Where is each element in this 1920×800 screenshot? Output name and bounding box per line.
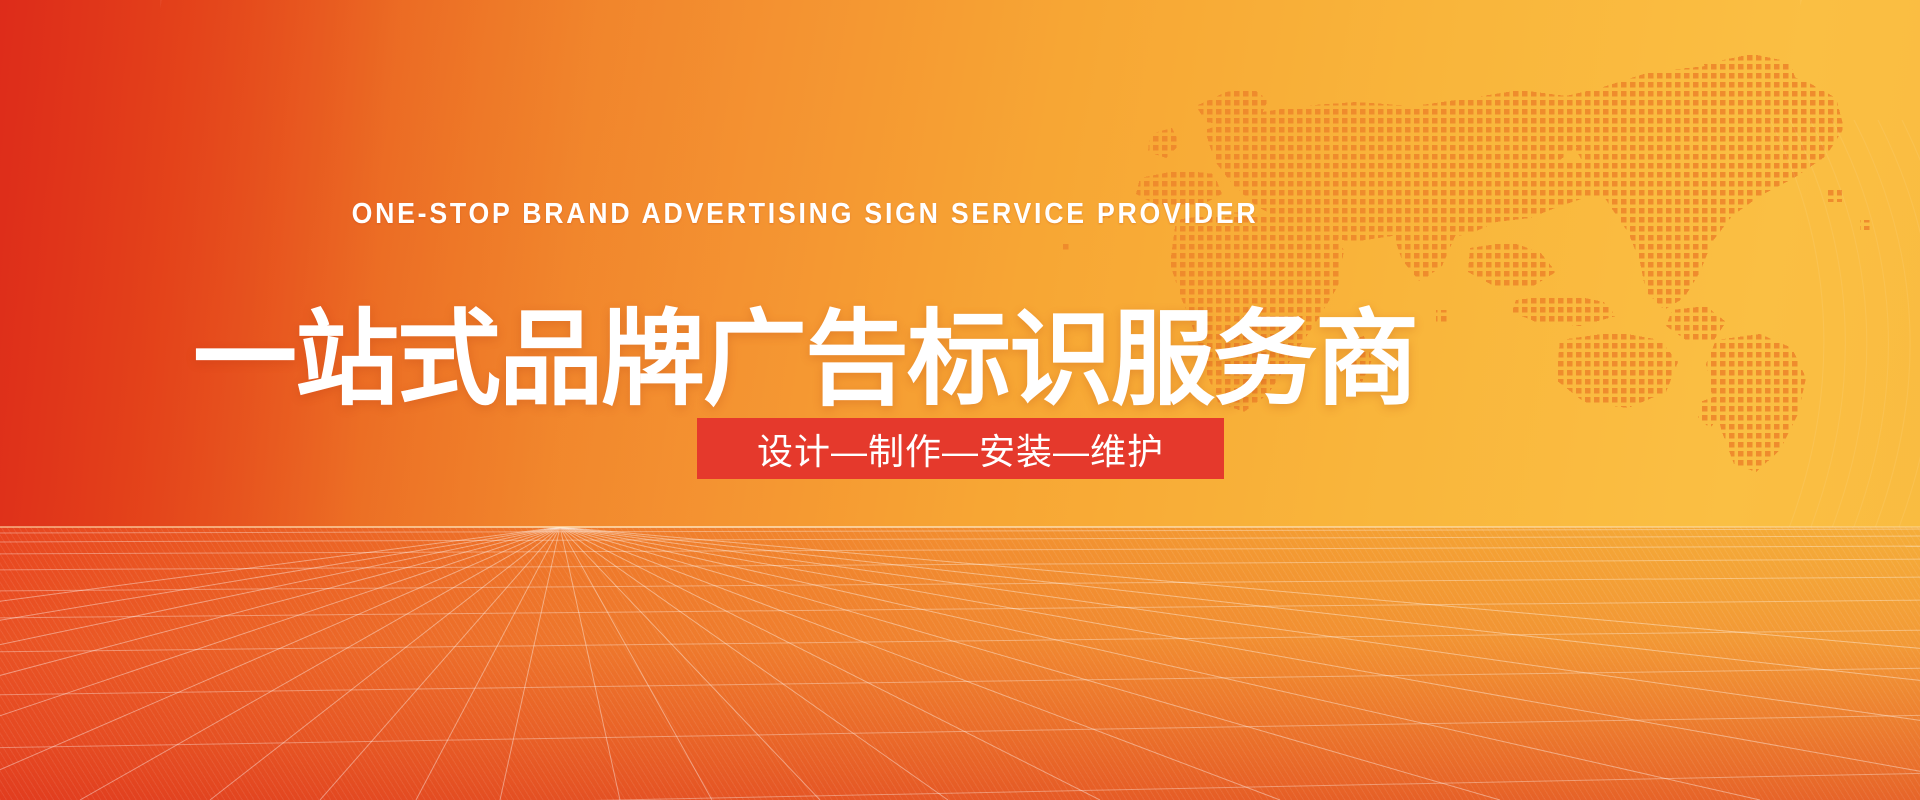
banner-eyebrow-text: ONE-STOP BRAND ADVERTISING SIGN SERVICE … (0, 198, 1688, 231)
banner-content: ONE-STOP BRAND ADVERTISING SIGN SERVICE … (0, 0, 1920, 527)
banner-tagline-text: 设计—制作—安装—维护 (697, 418, 1224, 479)
perspective-floor (0, 527, 1920, 800)
promo-banner: ONE-STOP BRAND ADVERTISING SIGN SERVICE … (0, 0, 1920, 800)
banner-headline: 一站式品牌广告标识服务商 (0, 308, 1765, 412)
perspective-grid-lines (0, 527, 1920, 800)
banner-tagline-badge: 设计—制作—安装—维护 (697, 418, 1224, 479)
